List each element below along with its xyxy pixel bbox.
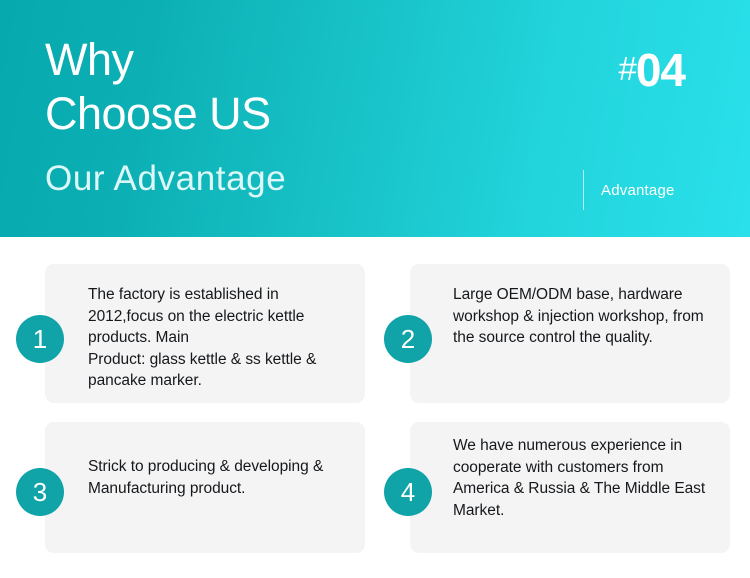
header-tag: Advantage	[583, 168, 675, 212]
hash-symbol: #	[618, 50, 635, 87]
advantages-grid: 1 The factory is established in 2012,foc…	[0, 237, 750, 578]
header-banner: Why Choose US Our Advantage #04 Advantag…	[0, 0, 750, 237]
vertical-divider	[583, 170, 584, 210]
page-title-line-2: Choose US	[45, 87, 505, 141]
card-text-3: Strick to producing & developing & Manuf…	[88, 456, 353, 499]
page-subtitle: Our Advantage	[45, 157, 286, 201]
card-number-badge-2: 2	[384, 315, 432, 363]
card-number-badge-4: 4	[384, 468, 432, 516]
card-number-badge-1: 1	[16, 315, 64, 363]
card-text-2: Large OEM/ODM base, hardware workshop & …	[453, 284, 718, 349]
section-number-value: 04	[636, 44, 685, 96]
page-title-line-1: Why	[45, 33, 505, 87]
card-number-badge-3: 3	[16, 468, 64, 516]
card-text-1: The factory is established in 2012,focus…	[88, 284, 353, 392]
card-text-4: We have numerous experience in cooperate…	[453, 435, 718, 521]
header-title-block: Why Choose US	[45, 33, 505, 141]
section-number-badge: #04	[618, 47, 685, 93]
header-tag-label: Advantage	[601, 182, 675, 199]
